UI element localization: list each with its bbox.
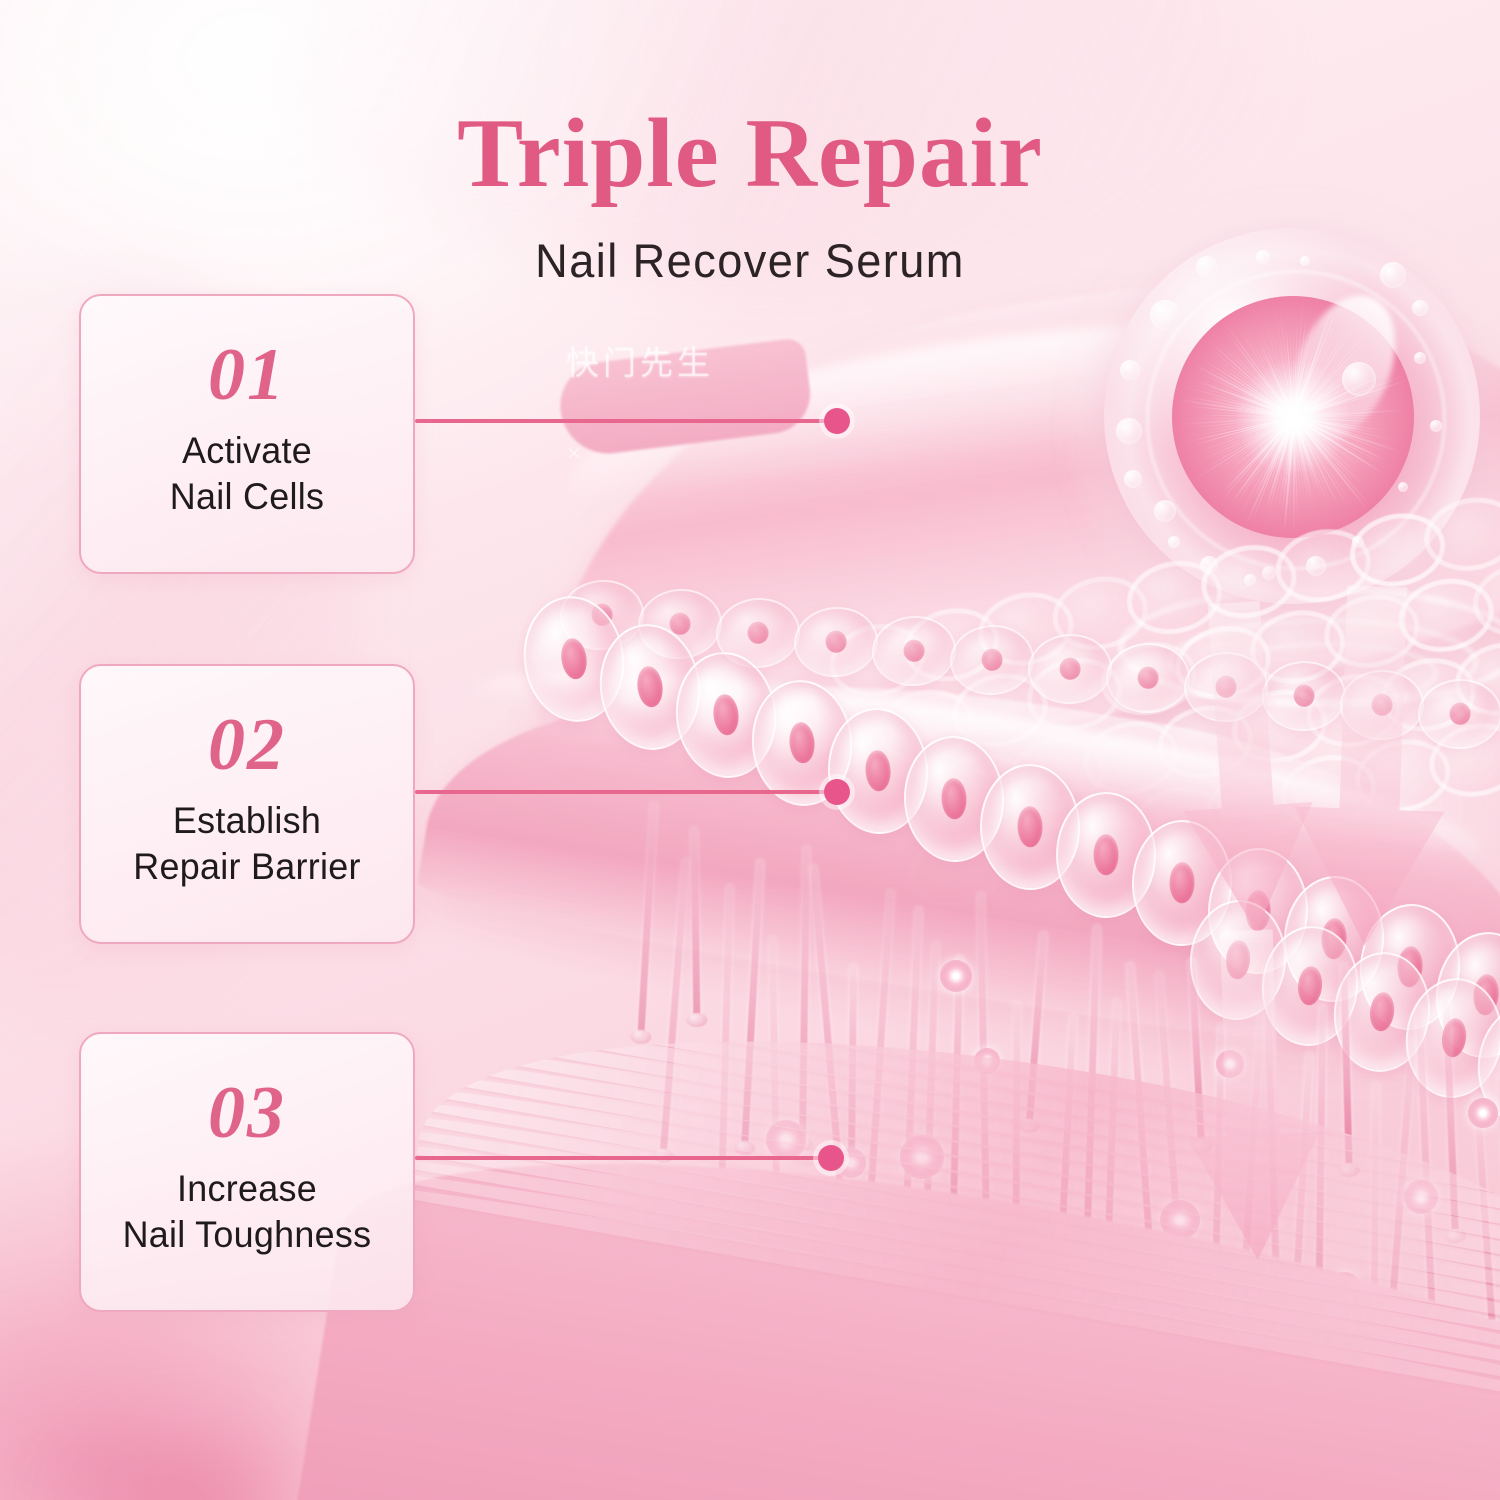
page-title: Triple Repair [0, 104, 1500, 203]
cell-nucleus [635, 665, 665, 709]
cell-nucleus [1293, 684, 1315, 707]
step-card-03[interactable]: 03 Increase Nail Toughness [79, 1032, 415, 1312]
step-label-01-line2: Nail Cells [86, 474, 408, 520]
step-label-01: Activate Nail Cells [86, 428, 408, 519]
connector-line-3 [415, 1156, 833, 1160]
cell-nucleus [711, 693, 740, 737]
product-infographic-poster: 快门先生 × Triple Repair Nail Recover Serum … [0, 0, 1500, 1500]
background-rose-blur-2 [40, 1400, 340, 1500]
step-label-03-line1: Increase [177, 1168, 317, 1209]
bubble [1120, 360, 1140, 380]
connector-dot-1 [824, 408, 850, 434]
bubble [1116, 418, 1142, 444]
step-card-01[interactable]: 01 Activate Nail Cells [79, 294, 415, 574]
step-label-02: Establish Repair Barrier [86, 798, 408, 889]
step-label-03: Increase Nail Toughness [86, 1166, 408, 1257]
cell-nucleus [981, 648, 1003, 672]
step-number-01: 01 [81, 338, 413, 412]
cell-nucleus [903, 639, 925, 663]
page-subtitle: Nail Recover Serum [30, 233, 1470, 288]
connector-line-1 [415, 419, 839, 423]
cell-nucleus [825, 630, 848, 654]
cell-nucleus [747, 621, 770, 645]
cell-nucleus [1137, 666, 1159, 690]
watermark-text: 快门先生 [566, 336, 714, 384]
cell-nucleus [1368, 991, 1396, 1033]
cell-nucleus [1449, 702, 1470, 725]
bubble [1414, 352, 1426, 364]
bubble [1168, 536, 1180, 548]
step-number-03: 03 [81, 1076, 413, 1150]
watermark-subtext: × [566, 442, 584, 464]
cell-nucleus [559, 637, 589, 682]
step-label-03-line2: Nail Toughness [86, 1212, 408, 1258]
bubble [1150, 300, 1180, 330]
connector-line-2 [415, 790, 839, 794]
cell-nucleus [1017, 806, 1043, 848]
step-label-02-line1: Establish [173, 800, 321, 841]
serum-orb [1468, 1098, 1498, 1128]
step-number-02: 02 [81, 708, 413, 782]
cell-nucleus [1296, 965, 1323, 1006]
bubble [1398, 482, 1408, 492]
step-label-01-line1: Activate [182, 430, 312, 471]
serum-orb [940, 960, 972, 992]
bubble [1430, 420, 1442, 432]
step-card-02[interactable]: 02 Establish Repair Barrier [79, 664, 415, 944]
connector-dot-3 [818, 1145, 844, 1171]
bubble [1412, 300, 1428, 316]
background-rose-blur [0, 1300, 340, 1500]
cell-nucleus [1059, 657, 1081, 681]
bubble [1244, 574, 1256, 586]
bubble [1306, 556, 1326, 576]
cell-nucleus [1169, 862, 1195, 904]
step-label-02-line2: Repair Barrier [86, 844, 408, 890]
connector-dot-2 [824, 779, 850, 805]
bubble [1124, 470, 1142, 488]
cell-nucleus [1093, 834, 1118, 876]
bubble [1352, 536, 1364, 548]
cell-nucleus [864, 750, 892, 793]
bubble [1200, 556, 1218, 574]
cell-nucleus [788, 721, 816, 764]
bubble [1342, 362, 1376, 396]
nail-cell [1417, 678, 1500, 750]
bubble [1154, 500, 1176, 522]
cell-nucleus [941, 778, 968, 821]
bubble [1262, 566, 1276, 580]
